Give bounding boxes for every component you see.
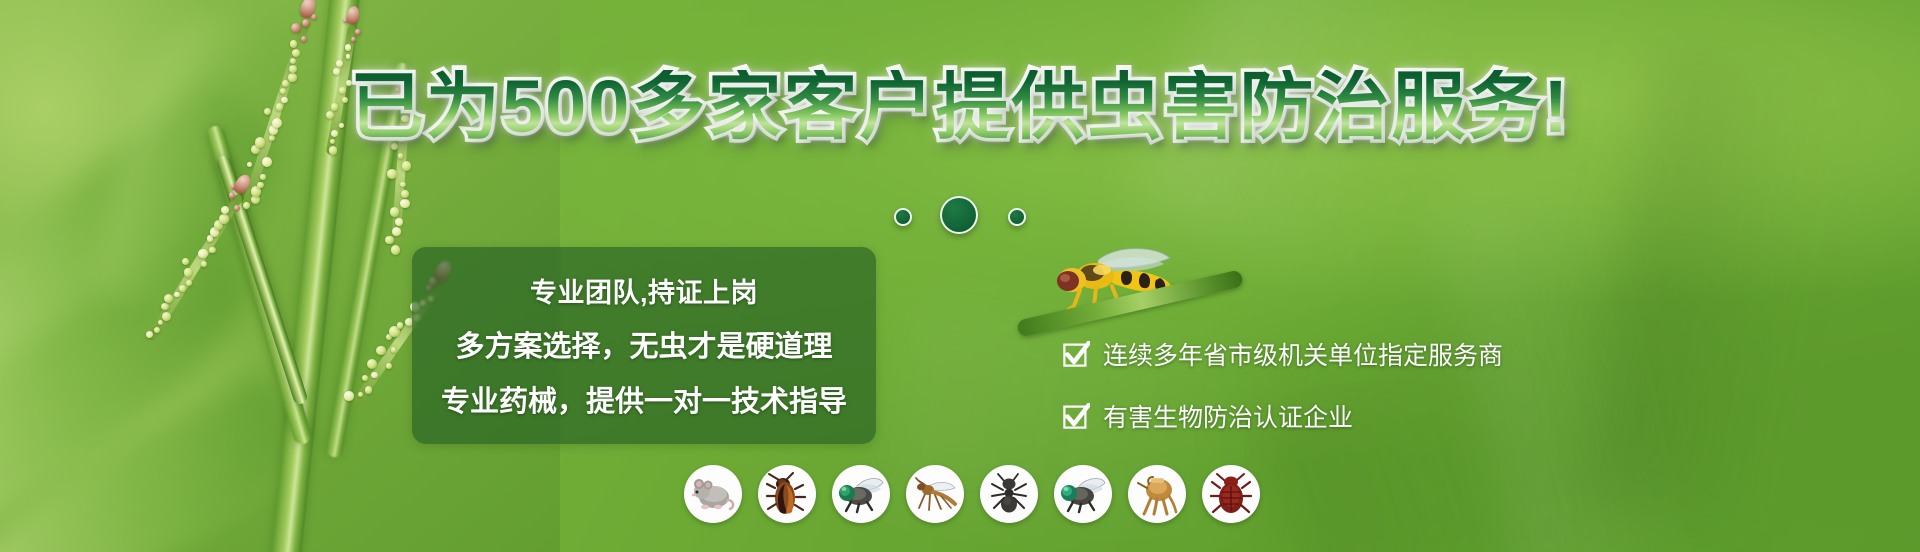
flower-bud [391, 347, 396, 352]
pest-circle-ant[interactable] [980, 465, 1038, 523]
flower-bud [209, 247, 215, 253]
bullet-label: 连续多年省市级机关单位指定服务商 [1103, 336, 1503, 372]
flower-bud [400, 182, 405, 187]
mosquito-icon [911, 474, 959, 514]
flower-bud [329, 146, 337, 154]
pest-control-banner: 已为500多家客户提供虫害防治服务! 已为500多家客户提供虫害防治服务! 专业… [0, 0, 1920, 552]
pest-circle-bedbug[interactable] [1202, 465, 1260, 523]
flower-bud [260, 174, 265, 179]
flower-bud [198, 249, 207, 258]
flower-bud [219, 214, 228, 223]
ant-icon [987, 472, 1031, 516]
flower-bud [262, 157, 272, 167]
pest-circle-flea[interactable] [1128, 465, 1186, 523]
feature-line-1: 专业团队,持证上岗 [530, 271, 758, 310]
pest-circle-mosquito[interactable] [906, 465, 964, 523]
flower-bud [402, 161, 411, 170]
list-item: 连续多年省市级机关单位指定服务商 [1063, 336, 1683, 372]
flower-bud [392, 227, 401, 236]
flower-bud [385, 236, 393, 244]
decor-dot-small-right [1008, 208, 1026, 226]
flower-bud [174, 292, 179, 297]
checkbox-check-icon [1063, 341, 1090, 368]
certification-bullets: 连续多年省市级机关单位指定服务商 有害生物防治认证企业 [1063, 336, 1683, 434]
flower-bud [291, 23, 301, 33]
flower-bud [158, 320, 163, 325]
flower-bud [344, 391, 354, 401]
flower-bud [401, 190, 409, 198]
flower-bud [365, 386, 373, 394]
flower-bud [243, 202, 250, 209]
flower-bud [398, 153, 404, 159]
flower-bud [251, 186, 261, 196]
flower-bud [400, 199, 410, 209]
feature-line-3: 专业药械，提供一对一技术指导 [441, 378, 847, 420]
pest-circle-cockroach[interactable] [758, 465, 816, 523]
fly-icon-2 [1059, 474, 1107, 514]
mouse-icon [690, 474, 736, 514]
feature-panel: 专业团队,持证上岗 多方案选择，无虫才是硬道理 专业药械，提供一对一技术指导 [412, 247, 876, 444]
flower-bud [161, 303, 169, 311]
pest-circle-fly-2[interactable] [1054, 465, 1112, 523]
flower-bud [376, 346, 385, 355]
flower-bud [301, 36, 307, 42]
fly-icon [837, 474, 885, 514]
flower-bud [391, 245, 400, 254]
flower-bud [346, 54, 350, 58]
flower-bud [345, 44, 351, 50]
page-title: 已为500多家客户提供虫害防治服务! [0, 70, 1920, 144]
cockroach-icon [765, 472, 809, 516]
bullet-label: 有害生物防治认证企业 [1103, 398, 1353, 434]
flower-bud [154, 327, 160, 333]
list-item: 有害生物防治认证企业 [1063, 398, 1683, 434]
flea-icon [1135, 472, 1179, 516]
pest-circle-mouse[interactable] [684, 465, 742, 523]
flower-bud [358, 392, 363, 397]
decor-dot-small-left [894, 208, 912, 226]
pest-icon-row [684, 465, 1260, 523]
hoverfly-on-stem-icon [1040, 240, 1190, 320]
flower-bud [257, 182, 263, 188]
bedbug-icon [1210, 472, 1252, 516]
flower-bud [362, 375, 368, 381]
flower-bud [386, 363, 392, 369]
flower-bud [397, 322, 403, 328]
decor-dot-large-center [940, 196, 978, 234]
checkbox-check-icon [1063, 403, 1090, 430]
feature-line-2: 多方案选择，无虫才是硬道理 [455, 323, 832, 365]
flower-bud [371, 372, 378, 379]
pest-circle-fly[interactable] [832, 465, 890, 523]
flower-bud [355, 29, 361, 35]
flower-bud [234, 205, 240, 211]
